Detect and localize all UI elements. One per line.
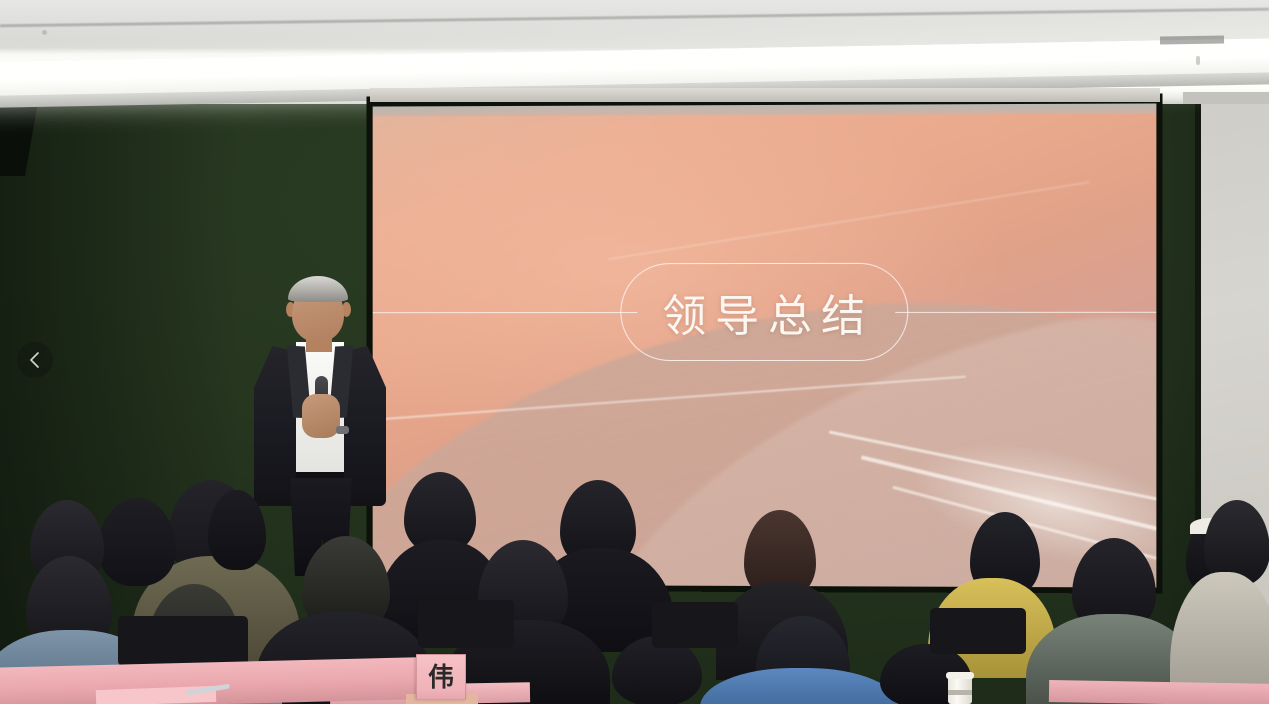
cup-band bbox=[948, 690, 972, 695]
chair-back bbox=[930, 608, 1026, 654]
screen-valance bbox=[370, 88, 1160, 102]
photo-viewer-stage: 领导总结 bbox=[0, 0, 1269, 704]
cup-lid bbox=[946, 672, 974, 679]
slide-title-rule-left bbox=[373, 312, 637, 314]
slide-title-rule-right bbox=[896, 312, 1157, 314]
ceiling-fixture-dot bbox=[1196, 56, 1200, 65]
ceiling-fixture-dot bbox=[42, 30, 47, 35]
name-placard-text: 伟 bbox=[428, 664, 454, 690]
wristwatch bbox=[336, 426, 349, 434]
chair-back bbox=[652, 602, 738, 648]
presenter-figure bbox=[246, 276, 392, 576]
presenter-hands bbox=[302, 394, 340, 438]
chair-back bbox=[418, 600, 514, 648]
chair-back bbox=[118, 616, 248, 666]
chevron-left-icon bbox=[28, 350, 42, 370]
ceiling-vent bbox=[1160, 35, 1224, 44]
prev-image-button[interactable] bbox=[17, 342, 53, 378]
presenter-hair bbox=[288, 276, 348, 302]
slide-title-pill: 领导总结 bbox=[620, 263, 908, 361]
slide-title-text: 领导总结 bbox=[653, 280, 874, 344]
conference-table bbox=[1049, 680, 1269, 704]
name-placard: 伟 bbox=[416, 654, 466, 700]
side-screen-valance bbox=[1183, 92, 1269, 104]
